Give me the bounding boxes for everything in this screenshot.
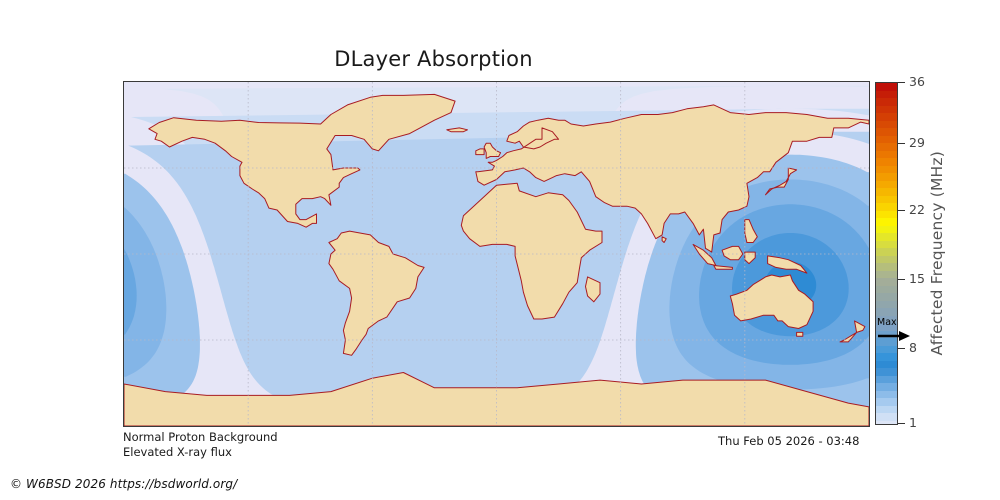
colorbar-segment [876, 203, 897, 211]
colorbar-segment [876, 263, 897, 271]
note-proton-background: Normal Proton Background [123, 430, 278, 444]
colorbar-segment [876, 256, 897, 264]
colorbar-segment [876, 143, 897, 151]
colorbar-segment [876, 406, 897, 414]
colorbar-segment [876, 98, 897, 106]
world-map-svg [124, 82, 869, 426]
colorbar-segment [876, 421, 897, 426]
map-inner [124, 82, 869, 426]
colorbar[interactable] [875, 82, 898, 425]
colorbar-segment [876, 241, 897, 249]
note-xray-flux: Elevated X-ray flux [123, 445, 232, 459]
colorbar-segment [876, 188, 897, 196]
colorbar-segment [876, 211, 897, 219]
colorbar-segment [876, 248, 897, 256]
colorbar-segment [876, 376, 897, 384]
colorbar-segment [876, 181, 897, 189]
colorbar-segment [876, 391, 897, 399]
colorbar-segment [876, 128, 897, 136]
timestamp: Thu Feb 05 2026 - 03:48 [718, 434, 859, 448]
colorbar-segment [876, 383, 897, 391]
page-title: DLayer Absorption [0, 47, 867, 71]
colorbar-segment [876, 293, 897, 301]
colorbar-segment [876, 271, 897, 279]
colorbar-segment [876, 361, 897, 369]
colorbar-segment [876, 353, 897, 361]
colorbar-segment [876, 286, 897, 294]
colorbar-segment [876, 151, 897, 159]
figure-canvas: DLayer Absorption 3629221581 Max [0, 0, 1000, 500]
colorbar-axis-label: Affected Frequency (MHz) [925, 82, 949, 425]
colorbar-segment [876, 413, 897, 421]
colorbar-segment [876, 113, 897, 121]
colorbar-segment [876, 398, 897, 406]
colorbar-segment [876, 121, 897, 129]
colorbar-segment [876, 278, 897, 286]
copyright-notice: © W6BSD 2026 https://bsdworld.org/ [10, 477, 237, 491]
colorbar-segment [876, 338, 897, 346]
colorbar-segment [876, 301, 897, 309]
colorbar-segment [876, 91, 897, 99]
colorbar-segment [876, 308, 897, 316]
colorbar-segment [876, 368, 897, 376]
colorbar-segment [876, 331, 897, 339]
landmass-polygon [476, 149, 484, 155]
map-plot-area[interactable] [123, 81, 870, 427]
colorbar-segment [876, 173, 897, 181]
colorbar-segment [876, 166, 897, 174]
colorbar-segment [876, 316, 897, 324]
colorbar-segment [876, 196, 897, 204]
colorbar-segment [876, 218, 897, 226]
colorbar-segment [876, 346, 897, 354]
colorbar-segment [876, 136, 897, 144]
colorbar-segment [876, 158, 897, 166]
colorbar-segment [876, 233, 897, 241]
colorbar-segment [876, 226, 897, 234]
colorbar-segment [876, 106, 897, 114]
landmass-polygon [797, 332, 803, 336]
colorbar-segment [876, 323, 897, 331]
colorbar-segment [876, 83, 897, 91]
